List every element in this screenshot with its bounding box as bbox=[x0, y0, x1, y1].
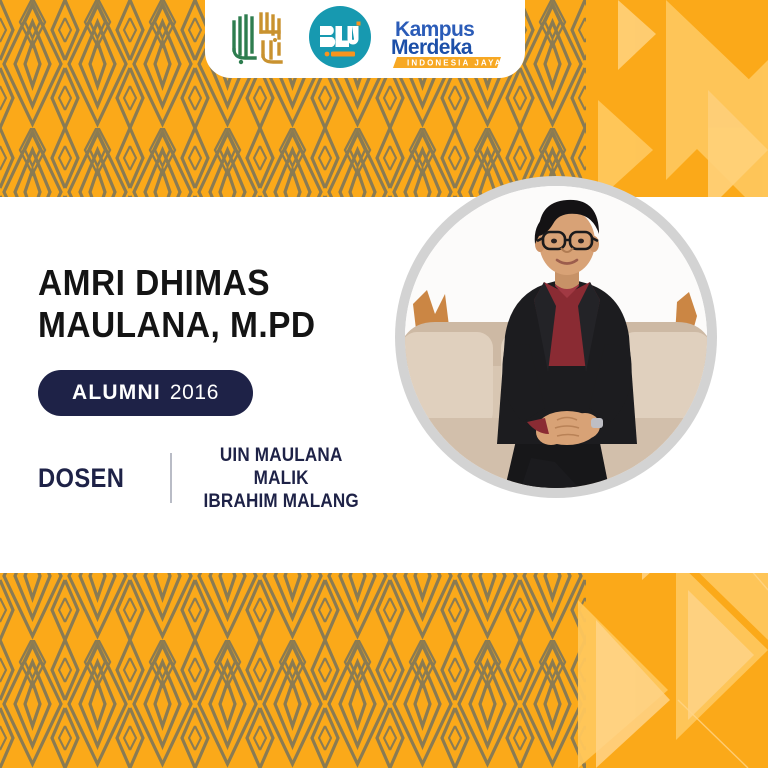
blu-speed-logo bbox=[307, 4, 373, 70]
uin-maulana-malik-ibrahim-logo bbox=[225, 4, 291, 70]
role-row: DOSEN UIN MAULANA MALIK IBRAHIM MALANG bbox=[38, 444, 378, 514]
portrait-photo bbox=[405, 186, 707, 488]
kampus-merdeka-logo: Kampus Merdeka INDONESIA JAYA bbox=[389, 10, 505, 70]
vertical-divider bbox=[170, 453, 172, 503]
status-badge: ALUMNI 2016 bbox=[38, 370, 253, 416]
organization-label: UIN MAULANA MALIK IBRAHIM MALANG bbox=[202, 444, 360, 514]
badge-label: ALUMNI bbox=[72, 381, 161, 405]
page-title: AMRI DHIMAS MAULANA, M.PD bbox=[38, 262, 354, 346]
alumni-profile-poster: Kampus Merdeka INDONESIA JAYA bbox=[0, 0, 768, 768]
profile-text-block: AMRI DHIMAS MAULANA, M.PD ALUMNI 2016 DO… bbox=[38, 262, 378, 513]
svg-text:INDONESIA JAYA: INDONESIA JAYA bbox=[407, 58, 503, 67]
role-label: DOSEN bbox=[38, 463, 124, 494]
badge-year: 2016 bbox=[170, 381, 219, 405]
portrait-circle bbox=[395, 176, 717, 498]
logo-header-plate: Kampus Merdeka INDONESIA JAYA bbox=[205, 0, 525, 78]
svg-text:Merdeka: Merdeka bbox=[391, 36, 473, 59]
